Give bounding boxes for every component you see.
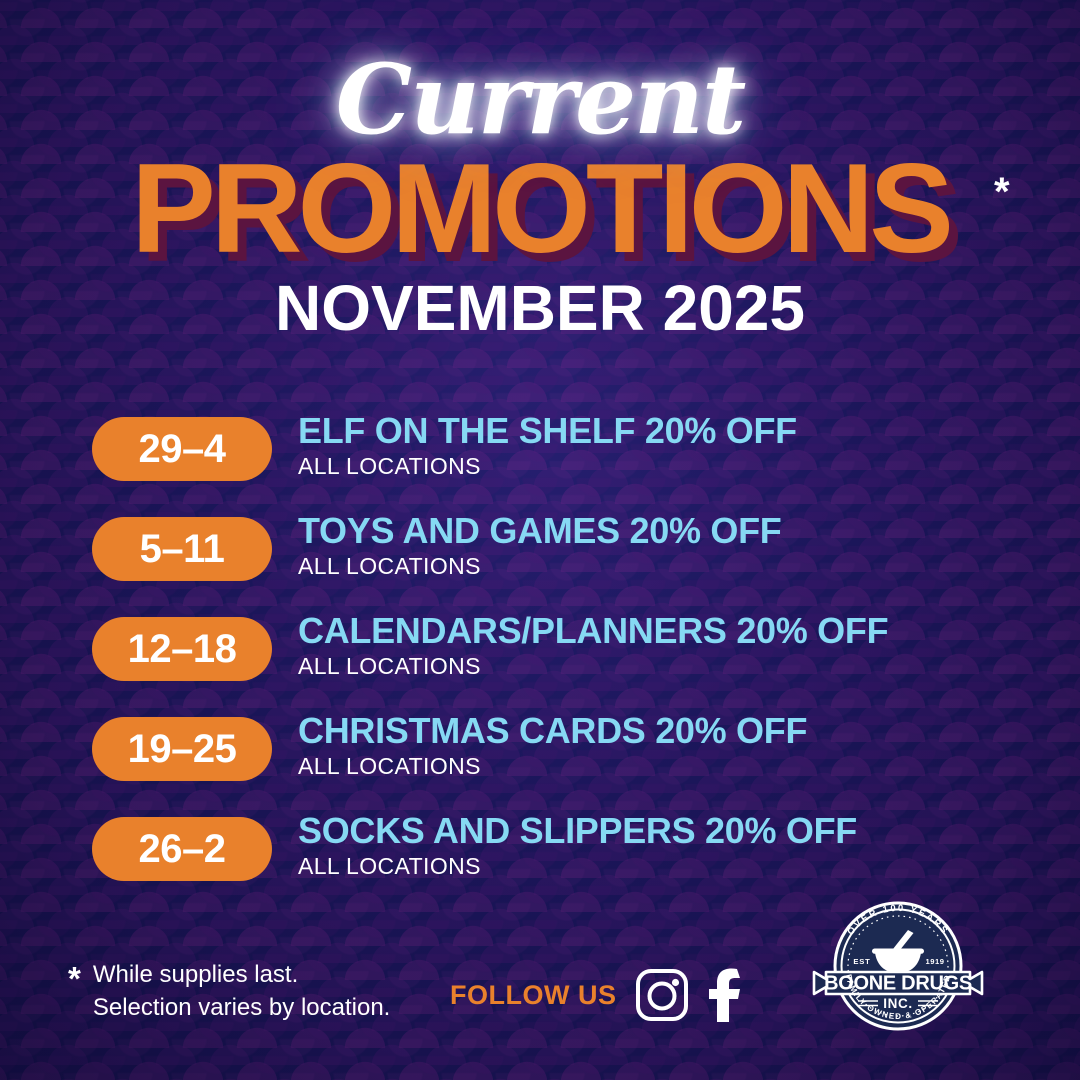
date-range-badge: 5–11 — [92, 517, 272, 581]
date-range-label: 5–11 — [140, 529, 225, 569]
promotion-text-block: SOCKS AND SLIPPERS 20% OFF ALL LOCATIONS — [298, 810, 857, 880]
logo-est-label: EST — [853, 957, 870, 966]
logo-suffix: INC. — [883, 996, 912, 1011]
facebook-icon[interactable] — [706, 966, 746, 1024]
promotion-locations: ALL LOCATIONS — [298, 853, 857, 879]
instagram-icon[interactable] — [634, 967, 690, 1023]
month-subtitle: NOVEMBER 2025 — [0, 276, 1080, 340]
logo-est-year: 1919 — [926, 957, 945, 966]
promotion-row: 12–18 CALENDARS/PLANNERS 20% OFF ALL LOC… — [0, 610, 1080, 710]
follow-us-block: FOLLOW US — [450, 966, 762, 1024]
promotion-text-block: CHRISTMAS CARDS 20% OFF ALL LOCATIONS — [298, 710, 807, 780]
boone-drugs-logo: OVER 100 YEARS EST 1919 BOONE DRUGS INC. — [800, 893, 995, 1031]
promotion-title: CHRISTMAS CARDS 20% OFF — [298, 710, 807, 751]
promotion-title: SOCKS AND SLIPPERS 20% OFF — [298, 810, 857, 851]
promotion-title: ELF ON THE SHELF 20% OFF — [298, 410, 797, 451]
date-range-label: 26–2 — [139, 829, 226, 869]
date-range-label: 12–18 — [128, 629, 237, 669]
disclaimer-line-2: Selection varies by location. — [93, 991, 391, 1024]
disclaimer-text: While supplies last. Selection varies by… — [93, 958, 391, 1024]
promotion-row: 5–11 TOYS AND GAMES 20% OFF ALL LOCATION… — [0, 510, 1080, 610]
promotion-title: TOYS AND GAMES 20% OFF — [298, 510, 781, 551]
promotion-locations: ALL LOCATIONS — [298, 553, 781, 579]
promotion-locations: ALL LOCATIONS — [298, 653, 888, 679]
promotions-list: 29–4 ELF ON THE SHELF 20% OFF ALL LOCATI… — [0, 410, 1080, 910]
promotion-text-block: ELF ON THE SHELF 20% OFF ALL LOCATIONS — [298, 410, 797, 480]
disclaimer-asterisk: * — [68, 962, 81, 995]
promotion-locations: ALL LOCATIONS — [298, 753, 807, 779]
date-range-badge: 29–4 — [92, 417, 272, 481]
date-range-badge: 26–2 — [92, 817, 272, 881]
promotion-row: 29–4 ELF ON THE SHELF 20% OFF ALL LOCATI… — [0, 410, 1080, 510]
promotion-text-block: TOYS AND GAMES 20% OFF ALL LOCATIONS — [298, 510, 781, 580]
follow-us-label: FOLLOW US — [450, 980, 616, 1011]
promotion-row: 19–25 CHRISTMAS CARDS 20% OFF ALL LOCATI… — [0, 710, 1080, 810]
promotions-poster: Current PROMOTIONS * NOVEMBER 2025 29–4 … — [0, 0, 1080, 1080]
date-range-badge: 19–25 — [92, 717, 272, 781]
disclaimer: * While supplies last. Selection varies … — [68, 958, 390, 1024]
page-title: PROMOTIONS — [0, 145, 1080, 272]
promotion-title: CALENDARS/PLANNERS 20% OFF — [298, 610, 888, 651]
disclaimer-line-1: While supplies last. — [93, 958, 391, 991]
promotion-text-block: CALENDARS/PLANNERS 20% OFF ALL LOCATIONS — [298, 610, 888, 680]
date-range-badge: 12–18 — [92, 617, 272, 681]
date-range-label: 29–4 — [139, 429, 226, 469]
script-title: Current — [0, 52, 1080, 148]
promotion-locations: ALL LOCATIONS — [298, 453, 797, 479]
title-asterisk: * — [994, 172, 1010, 212]
date-range-label: 19–25 — [128, 729, 237, 769]
